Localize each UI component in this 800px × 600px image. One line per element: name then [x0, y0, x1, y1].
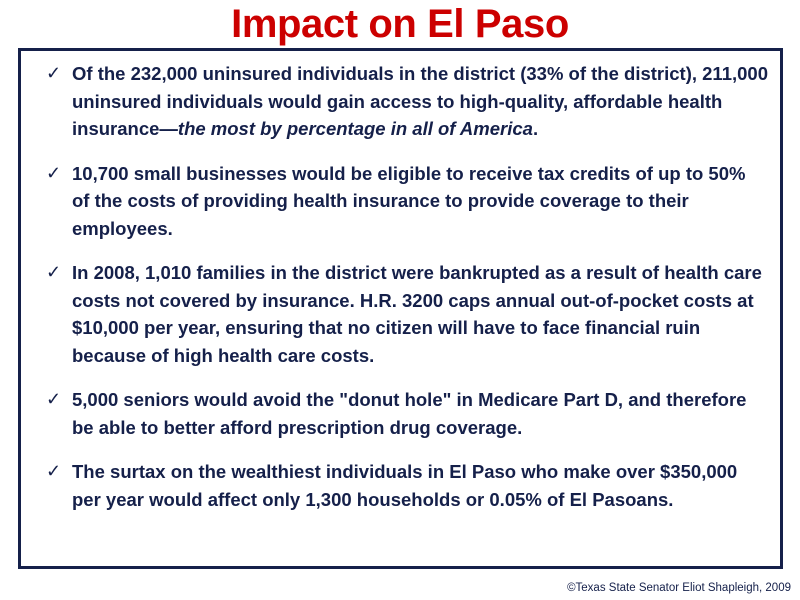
list-item-text-tail: .: [533, 118, 538, 139]
content-box: ✓Of the 232,000 uninsured individuals in…: [18, 48, 783, 569]
checkmark-icon: ✓: [46, 259, 61, 287]
list-item-text: 10,700 small businesses would be eligibl…: [72, 163, 745, 239]
slide-root: Impact on El Paso ✓Of the 232,000 uninsu…: [0, 0, 800, 600]
list-item-emphasis: the most by percentage in all of America: [178, 118, 533, 139]
list-item: ✓The surtax on the wealthiest individual…: [33, 458, 768, 513]
list-item: ✓Of the 232,000 uninsured individuals in…: [33, 60, 768, 143]
copyright-credit: ©Texas State Senator Eliot Shapleigh, 20…: [567, 581, 791, 595]
checkmark-icon: ✓: [46, 458, 61, 486]
list-item: ✓10,700 small businesses would be eligib…: [33, 160, 768, 243]
checkmark-icon: ✓: [46, 386, 61, 414]
list-item-text: The surtax on the wealthiest individuals…: [72, 461, 737, 510]
list-item: ✓5,000 seniors would avoid the "donut ho…: [33, 386, 768, 441]
checkmark-icon: ✓: [46, 160, 61, 188]
checkmark-icon: ✓: [46, 60, 61, 88]
list-item: ✓In 2008, 1,010 families in the district…: [33, 259, 768, 369]
bullet-list: ✓Of the 232,000 uninsured individuals in…: [33, 60, 768, 513]
list-item-text: In 2008, 1,010 families in the district …: [72, 262, 762, 366]
list-item-text: 5,000 seniors would avoid the "donut hol…: [72, 389, 746, 438]
page-title: Impact on El Paso: [0, 2, 800, 46]
